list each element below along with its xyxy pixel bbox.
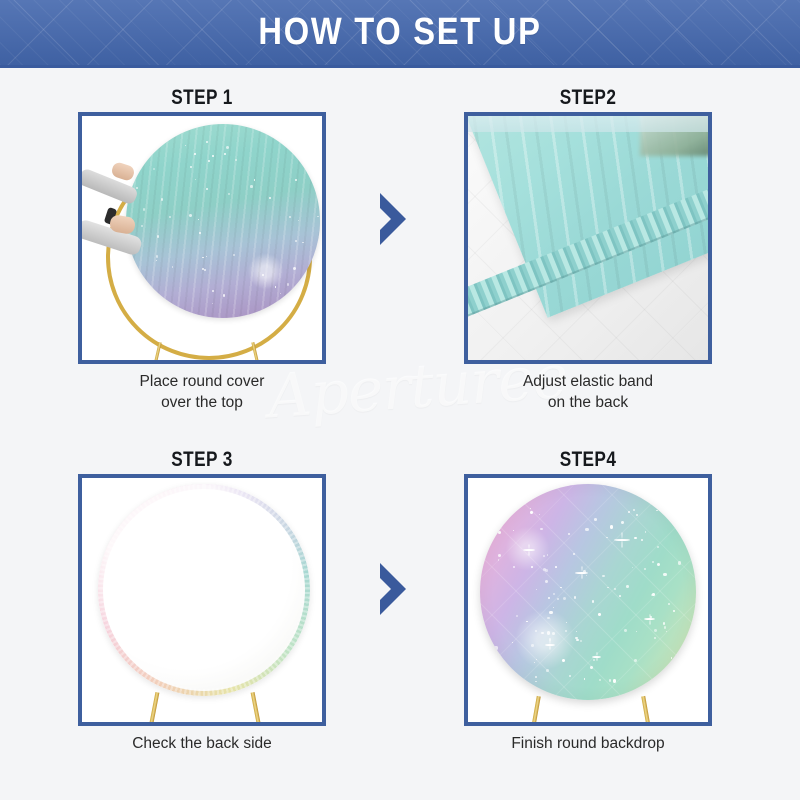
backdrop-vignette (480, 484, 696, 700)
step-2-illustration (468, 116, 708, 360)
page-header: HOW TO SET UP (0, 0, 800, 68)
disc-sheen (98, 484, 310, 696)
gradient-cover-cloth (126, 124, 320, 318)
step-1-label: STEP 1 (100, 86, 303, 110)
finished-backdrop-disc (480, 484, 696, 700)
step-4-caption-line1: Finish round backdrop (464, 733, 712, 754)
step-1-caption-line1: Place round cover (78, 371, 326, 392)
step-1-caption-line2: over the top (78, 392, 326, 413)
step-2-label: STEP2 (486, 86, 689, 110)
step-card-4: STEP4 Finish round backdrop (464, 448, 712, 748)
page-title: HOW TO SET UP (56, 0, 744, 65)
step-card-2: STEP2 Adjust elastic band on the back (464, 86, 712, 386)
step-card-1: STEP 1 Place round cover over the top (78, 86, 326, 386)
step-3-illustration (82, 478, 322, 722)
step-2-image-frame (464, 112, 712, 364)
chevron-right-icon-bottom (376, 562, 410, 616)
cloth-stars (126, 124, 320, 318)
step-4-label: STEP4 (486, 448, 689, 472)
step-3-caption-line1: Check the back side (78, 733, 326, 754)
chevron-right-icon-top (376, 192, 410, 246)
step-4-image-frame (464, 474, 712, 726)
step-2-caption: Adjust elastic band on the back (464, 371, 712, 413)
step-2-caption-line2: on the back (464, 392, 712, 413)
step-3-caption: Check the back side (78, 733, 326, 754)
step-1-illustration (82, 116, 322, 360)
step-4-caption: Finish round backdrop (464, 733, 712, 754)
step-3-label: STEP 3 (100, 448, 303, 472)
step-2-caption-line1: Adjust elastic band (464, 371, 712, 392)
step-1-image-frame (78, 112, 326, 364)
step-card-3: STEP 3 Check the back side (78, 448, 326, 748)
step-4-illustration (468, 478, 708, 722)
step-3-image-frame (78, 474, 326, 726)
step-1-caption: Place round cover over the top (78, 371, 326, 413)
top-highlight-strip (468, 116, 708, 132)
